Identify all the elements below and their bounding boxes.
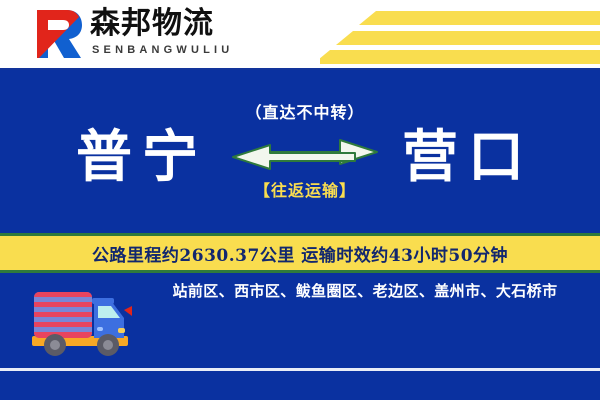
distance-duration-text: 公路里程约2630.37公里 运输时效约43小时50分钟 (92, 241, 508, 266)
senbang-r-logo-icon (27, 8, 83, 60)
direct-route-note: （直达不中转） (225, 99, 385, 123)
route-row: 普宁 （直达不中转） 【往返运输】 营口 (0, 95, 600, 210)
stripe-2 (353, 31, 600, 45)
origin-city: 普宁 (42, 95, 232, 210)
stripe-1 (376, 11, 600, 25)
stripe-3 (330, 50, 600, 64)
header-bar: 森邦物流 SENBANGWULIU (0, 0, 600, 70)
delivery-truck-icon (26, 282, 134, 360)
bottom-divider (0, 368, 600, 371)
logistics-route-banner: 森邦物流 SENBANGWULIU 普宁 （直达不中转） 【往返运输】 营口 公… (0, 0, 600, 400)
band-divider-bottom (0, 270, 600, 273)
brand-name-en: SENBANGWULIU (92, 44, 233, 56)
brand-name-cn: 森邦物流 (90, 6, 214, 42)
round-trip-note: 【往返运输】 (225, 177, 385, 201)
decorative-stripes (320, 0, 600, 68)
district-list: 站前区、西市区、鲅鱼圈区、老边区、盖州市、大石桥市 (140, 275, 590, 305)
route-middle: （直达不中转） 【往返运输】 (225, 95, 385, 210)
bidirectional-arrow-icon (225, 131, 385, 171)
destination-city: 营口 (368, 95, 558, 210)
info-band: 公路里程约2630.37公里 运输时效约43小时50分钟 (0, 236, 600, 270)
